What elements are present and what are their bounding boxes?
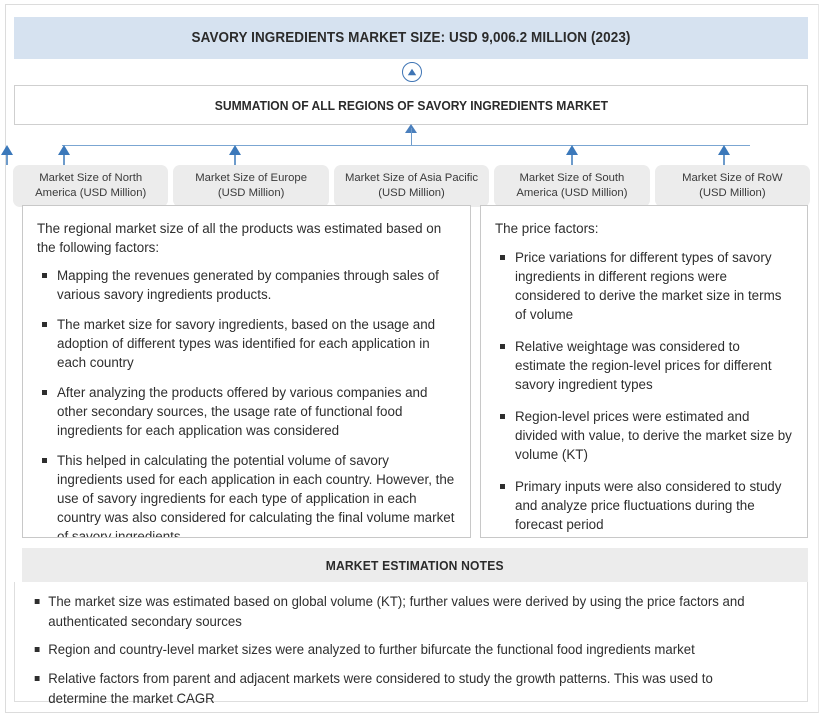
center-connector-line <box>411 128 412 145</box>
panel-left-bullet-list: Mapping the revenues generated by compan… <box>37 266 456 538</box>
region-label-line2: (USD Million) <box>218 186 285 201</box>
list-item: Relative factors from parent and adjacen… <box>25 669 760 708</box>
regional-market-size-panel: The regional market size of all the prod… <box>22 205 471 538</box>
list-item: Region and country-level market sizes we… <box>25 640 760 660</box>
region-box-north-america: Market Size of North America (USD Millio… <box>13 165 168 207</box>
banner-title: SAVORY INGREDIENTS MARKET SIZE: USD 9,00… <box>191 30 630 46</box>
region-label-line1: Market Size of North <box>39 171 142 186</box>
list-item: The market size was estimated based on g… <box>25 592 760 631</box>
region-boxes-row: Market Size of North America (USD Millio… <box>13 165 810 207</box>
panel-left-intro: The regional market size of all the prod… <box>37 219 456 257</box>
price-factors-panel: The price factors: Price variations for … <box>480 205 808 538</box>
list-item: This helped in calculating the potential… <box>37 451 456 538</box>
region-box-row: Market Size of RoW (USD Million) <box>655 165 810 207</box>
list-item: Primary inputs were also considered to s… <box>495 477 793 534</box>
region-label-line1: Market Size of RoW <box>682 171 782 186</box>
list-item: Price variations for different types of … <box>495 248 793 324</box>
region-box-europe: Market Size of Europe (USD Million) <box>173 165 328 207</box>
list-item: Mapping the revenues generated by compan… <box>37 266 456 304</box>
savory-ingredients-market-estimation-diagram: SAVORY INGREDIENTS MARKET SIZE: USD 9,00… <box>0 0 823 717</box>
branch-arrow-north-america <box>57 145 71 165</box>
region-label-line1: Market Size of Asia Pacific <box>345 171 478 186</box>
branch-arrow-south-america <box>565 145 579 165</box>
region-box-south-america: Market Size of South America (USD Millio… <box>494 165 649 207</box>
branch-arrow-asia-pacific <box>0 145 14 165</box>
branch-arrow-row <box>717 145 731 165</box>
notes-bullet-list: The market size was estimated based on g… <box>25 592 783 709</box>
summation-title: SUMMATION OF ALL REGIONS OF SAVORY INGRE… <box>214 98 607 113</box>
region-label-line1: Market Size of South <box>519 171 624 186</box>
market-estimation-notes-header: MARKET ESTIMATION NOTES <box>22 548 808 582</box>
region-box-asia-pacific: Market Size of Asia Pacific (USD Million… <box>334 165 489 207</box>
horizontal-connector-line <box>62 145 750 146</box>
panel-right-bullet-list: Price variations for different types of … <box>495 248 793 534</box>
list-item: Region-level prices were estimated and d… <box>495 407 793 464</box>
branch-arrow-europe <box>228 145 242 165</box>
region-label-line2: (USD Million) <box>699 186 766 201</box>
content-panels: The regional market size of all the prod… <box>14 205 808 538</box>
panel-right-intro: The price factors: <box>495 219 793 238</box>
circle-up-arrow-icon <box>402 62 422 82</box>
summation-box: SUMMATION OF ALL REGIONS OF SAVORY INGRE… <box>14 85 808 125</box>
list-item: After analyzing the products offered by … <box>37 383 456 440</box>
list-item: Relative weightage was considered to est… <box>495 337 793 394</box>
market-estimation-notes-body: The market size was estimated based on g… <box>14 582 808 702</box>
region-label-line2: America (USD Million) <box>516 186 627 201</box>
market-size-banner: SAVORY INGREDIENTS MARKET SIZE: USD 9,00… <box>14 17 808 59</box>
list-item: The market size for savory ingredients, … <box>37 315 456 372</box>
region-label-line1: Market Size of Europe <box>195 171 307 186</box>
region-label-line2: America (USD Million) <box>35 186 146 201</box>
notes-header-title: MARKET ESTIMATION NOTES <box>326 558 504 573</box>
region-label-line2: (USD Million) <box>378 186 445 201</box>
